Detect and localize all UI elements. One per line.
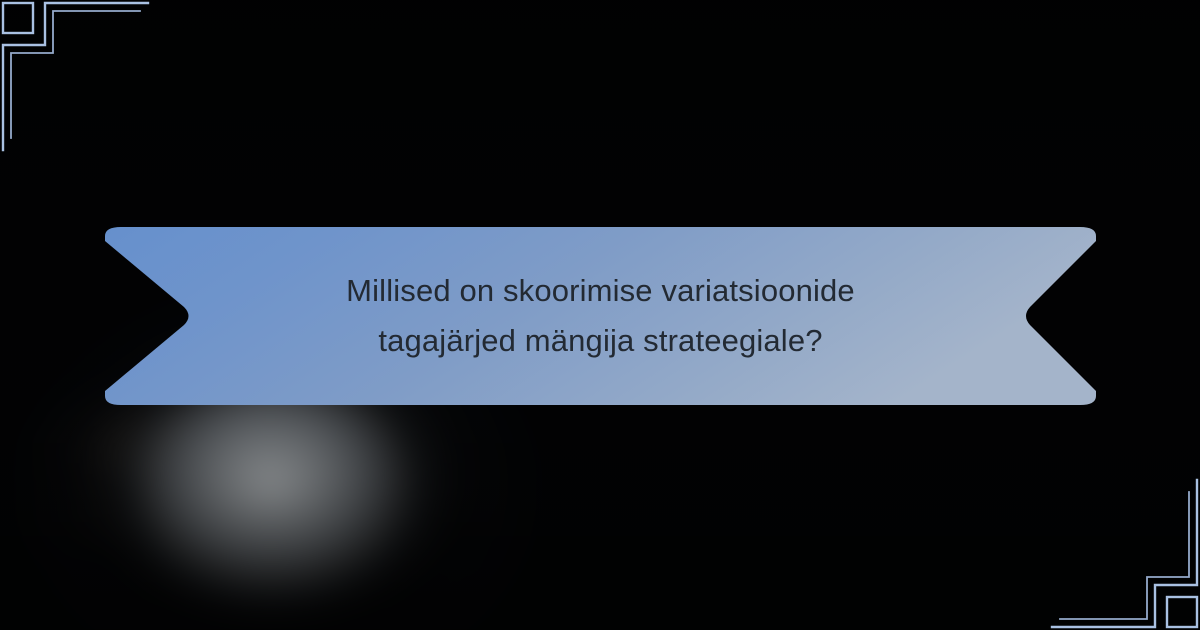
social-card: Millised on skoorimise variatsioonide ta… <box>0 0 1200 630</box>
banner-line-1: Millised on skoorimise variatsioonide <box>346 266 855 316</box>
banner-text-block: Millised on skoorimise variatsioonide ta… <box>105 227 1096 405</box>
banner-line-2: tagajärjed mängija strateegiale? <box>378 316 822 366</box>
ribbon-banner: Millised on skoorimise variatsioonide ta… <box>105 227 1096 405</box>
